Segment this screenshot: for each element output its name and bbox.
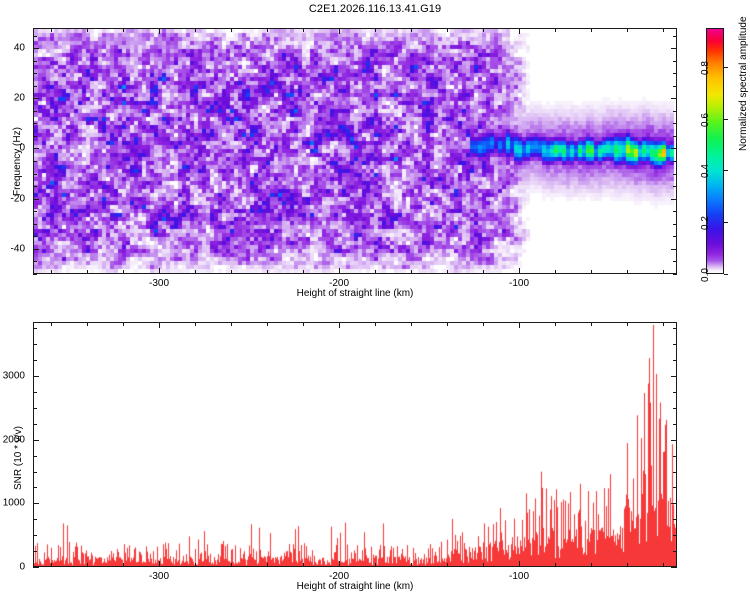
figure-title: C2E1.2026.116.13.41.G19 xyxy=(0,3,750,15)
y-major-tick xyxy=(33,148,39,149)
x-minor-tick xyxy=(375,270,376,274)
y-major-tick xyxy=(33,249,39,250)
x-minor-tick xyxy=(483,270,484,274)
x-minor-tick xyxy=(195,270,196,274)
x-major-tick xyxy=(339,28,340,34)
x-minor-tick xyxy=(627,28,628,32)
x-minor-tick xyxy=(231,270,232,274)
x-minor-tick xyxy=(591,28,592,32)
x-minor-tick xyxy=(483,563,484,567)
x-major-tick xyxy=(519,322,520,328)
y-minor-tick xyxy=(673,186,677,187)
x-tick-label: -100 xyxy=(509,571,529,582)
snr-yaxis-label: SNR (10 * v/v) xyxy=(13,426,24,490)
x-minor-tick xyxy=(195,563,196,567)
x-minor-tick xyxy=(375,28,376,32)
figure-canvas: C2E1.2026.116.13.41.G19 -300-200-1004020… xyxy=(0,0,750,600)
x-minor-tick xyxy=(447,563,448,567)
x-minor-tick xyxy=(591,322,592,326)
y-major-tick xyxy=(671,440,677,441)
y-minor-tick xyxy=(673,408,677,409)
y-minor-tick xyxy=(33,344,37,345)
y-major-tick xyxy=(33,440,39,441)
y-major-tick xyxy=(33,48,39,49)
x-minor-tick xyxy=(87,322,88,326)
x-major-tick xyxy=(159,561,160,567)
x-major-tick xyxy=(159,322,160,328)
y-tick-label: 3000 xyxy=(0,371,25,382)
y-minor-tick xyxy=(673,174,677,175)
y-minor-tick xyxy=(33,274,37,275)
x-minor-tick xyxy=(663,322,664,326)
x-minor-tick xyxy=(375,563,376,567)
x-minor-tick xyxy=(663,270,664,274)
y-minor-tick xyxy=(673,424,677,425)
y-minor-tick xyxy=(33,224,37,225)
y-minor-tick xyxy=(33,392,37,393)
y-major-tick xyxy=(33,376,39,377)
spectrogram-image xyxy=(34,29,677,274)
x-minor-tick xyxy=(411,322,412,326)
y-tick-label: -40 xyxy=(0,244,25,255)
x-minor-tick xyxy=(123,270,124,274)
x-minor-tick xyxy=(123,28,124,32)
x-minor-tick xyxy=(447,322,448,326)
y-minor-tick xyxy=(673,274,677,275)
y-minor-tick xyxy=(673,472,677,473)
y-tick-label: 40 xyxy=(0,43,25,54)
y-major-tick xyxy=(671,567,677,568)
colorbar-tick-label: 0.0 xyxy=(700,268,711,282)
x-minor-tick xyxy=(483,28,484,32)
snr-line-plot xyxy=(34,323,677,567)
y-minor-tick xyxy=(33,551,37,552)
x-minor-tick xyxy=(483,322,484,326)
y-major-tick xyxy=(671,376,677,377)
y-minor-tick xyxy=(33,408,37,409)
y-minor-tick xyxy=(673,519,677,520)
x-major-tick xyxy=(339,322,340,328)
y-minor-tick xyxy=(673,551,677,552)
x-major-tick xyxy=(159,268,160,274)
spectrogram-xaxis-label: Height of straight line (km) xyxy=(297,288,414,299)
y-minor-tick xyxy=(673,236,677,237)
x-minor-tick xyxy=(555,563,556,567)
x-minor-tick xyxy=(51,270,52,274)
x-minor-tick xyxy=(231,28,232,32)
y-minor-tick xyxy=(673,535,677,536)
x-minor-tick xyxy=(627,322,628,326)
x-major-tick xyxy=(519,268,520,274)
y-minor-tick xyxy=(33,136,37,137)
y-minor-tick xyxy=(33,36,37,37)
y-minor-tick xyxy=(673,456,677,457)
y-minor-tick xyxy=(673,61,677,62)
colorbar-tick xyxy=(724,67,728,68)
y-minor-tick xyxy=(33,161,37,162)
y-minor-tick xyxy=(33,73,37,74)
x-minor-tick xyxy=(303,270,304,274)
y-tick-label: 1000 xyxy=(0,498,25,509)
x-minor-tick xyxy=(123,322,124,326)
y-minor-tick xyxy=(673,344,677,345)
y-tick-label: 20 xyxy=(0,93,25,104)
y-minor-tick xyxy=(673,123,677,124)
y-major-tick xyxy=(671,148,677,149)
x-tick-label: -300 xyxy=(149,571,169,582)
x-major-tick xyxy=(339,268,340,274)
x-minor-tick xyxy=(267,270,268,274)
y-minor-tick xyxy=(673,36,677,37)
y-minor-tick xyxy=(673,73,677,74)
y-minor-tick xyxy=(33,519,37,520)
y-major-tick xyxy=(671,199,677,200)
x-minor-tick xyxy=(591,563,592,567)
x-minor-tick xyxy=(411,28,412,32)
x-minor-tick xyxy=(195,322,196,326)
x-tick-label: -100 xyxy=(509,278,529,289)
colorbar-tick xyxy=(724,119,728,120)
y-minor-tick xyxy=(673,86,677,87)
y-minor-tick xyxy=(33,328,37,329)
x-minor-tick xyxy=(267,28,268,32)
colorbar-tick xyxy=(724,170,728,171)
y-minor-tick xyxy=(673,211,677,212)
colorbar-tick-label: 0.8 xyxy=(700,61,711,75)
y-major-tick xyxy=(671,98,677,99)
x-minor-tick xyxy=(627,270,628,274)
spectrogram-axes xyxy=(33,28,677,274)
x-minor-tick xyxy=(375,322,376,326)
y-minor-tick xyxy=(33,472,37,473)
y-minor-tick xyxy=(33,487,37,488)
x-minor-tick xyxy=(231,563,232,567)
x-minor-tick xyxy=(303,28,304,32)
y-tick-label: 0 xyxy=(0,562,25,573)
x-minor-tick xyxy=(447,28,448,32)
x-major-tick xyxy=(159,28,160,34)
x-major-tick xyxy=(519,28,520,34)
y-minor-tick xyxy=(673,261,677,262)
snr-axes xyxy=(33,322,677,567)
y-minor-tick xyxy=(33,456,37,457)
colorbar-tick-label: 0.2 xyxy=(700,216,711,230)
y-minor-tick xyxy=(33,186,37,187)
y-major-tick xyxy=(671,48,677,49)
colorbar-axis-label: Normalized spectral amplitude xyxy=(738,16,749,151)
y-minor-tick xyxy=(33,174,37,175)
x-minor-tick xyxy=(123,563,124,567)
y-minor-tick xyxy=(33,261,37,262)
x-major-tick xyxy=(519,561,520,567)
colorbar-tick-label: 0.4 xyxy=(700,164,711,178)
y-minor-tick xyxy=(673,136,677,137)
x-minor-tick xyxy=(555,28,556,32)
y-minor-tick xyxy=(673,487,677,488)
x-minor-tick xyxy=(627,563,628,567)
y-major-tick xyxy=(33,98,39,99)
colorbar-tick xyxy=(724,222,728,223)
x-minor-tick xyxy=(591,270,592,274)
x-tick-label: -300 xyxy=(149,278,169,289)
x-minor-tick xyxy=(87,563,88,567)
colorbar-tick xyxy=(724,274,728,275)
y-minor-tick xyxy=(33,211,37,212)
x-minor-tick xyxy=(663,563,664,567)
x-minor-tick xyxy=(303,322,304,326)
x-minor-tick xyxy=(51,563,52,567)
y-minor-tick xyxy=(33,86,37,87)
colorbar-tick-label: 0.6 xyxy=(700,113,711,127)
x-major-tick xyxy=(339,561,340,567)
y-minor-tick xyxy=(673,111,677,112)
x-minor-tick xyxy=(87,270,88,274)
x-minor-tick xyxy=(411,270,412,274)
y-major-tick xyxy=(33,199,39,200)
y-minor-tick xyxy=(33,424,37,425)
spectrogram-yaxis-label: Frequency (Hz) xyxy=(12,127,23,196)
x-minor-tick xyxy=(195,28,196,32)
x-minor-tick xyxy=(51,28,52,32)
y-minor-tick xyxy=(33,236,37,237)
y-minor-tick xyxy=(673,161,677,162)
snr-xaxis-label: Height of straight line (km) xyxy=(297,581,414,592)
x-minor-tick xyxy=(555,270,556,274)
x-minor-tick xyxy=(411,563,412,567)
y-minor-tick xyxy=(673,224,677,225)
x-minor-tick xyxy=(447,270,448,274)
y-major-tick xyxy=(33,567,39,568)
x-minor-tick xyxy=(267,322,268,326)
y-minor-tick xyxy=(673,392,677,393)
y-minor-tick xyxy=(33,535,37,536)
y-minor-tick xyxy=(33,360,37,361)
x-minor-tick xyxy=(231,322,232,326)
x-minor-tick xyxy=(87,28,88,32)
y-minor-tick xyxy=(33,111,37,112)
x-minor-tick xyxy=(51,322,52,326)
x-minor-tick xyxy=(555,322,556,326)
y-minor-tick xyxy=(673,360,677,361)
y-minor-tick xyxy=(33,61,37,62)
y-major-tick xyxy=(33,503,39,504)
colorbar: 0.00.20.40.60.8 xyxy=(706,28,724,274)
y-major-tick xyxy=(671,249,677,250)
x-minor-tick xyxy=(303,563,304,567)
x-minor-tick xyxy=(663,28,664,32)
x-minor-tick xyxy=(267,563,268,567)
y-minor-tick xyxy=(673,328,677,329)
y-minor-tick xyxy=(33,123,37,124)
y-major-tick xyxy=(671,503,677,504)
